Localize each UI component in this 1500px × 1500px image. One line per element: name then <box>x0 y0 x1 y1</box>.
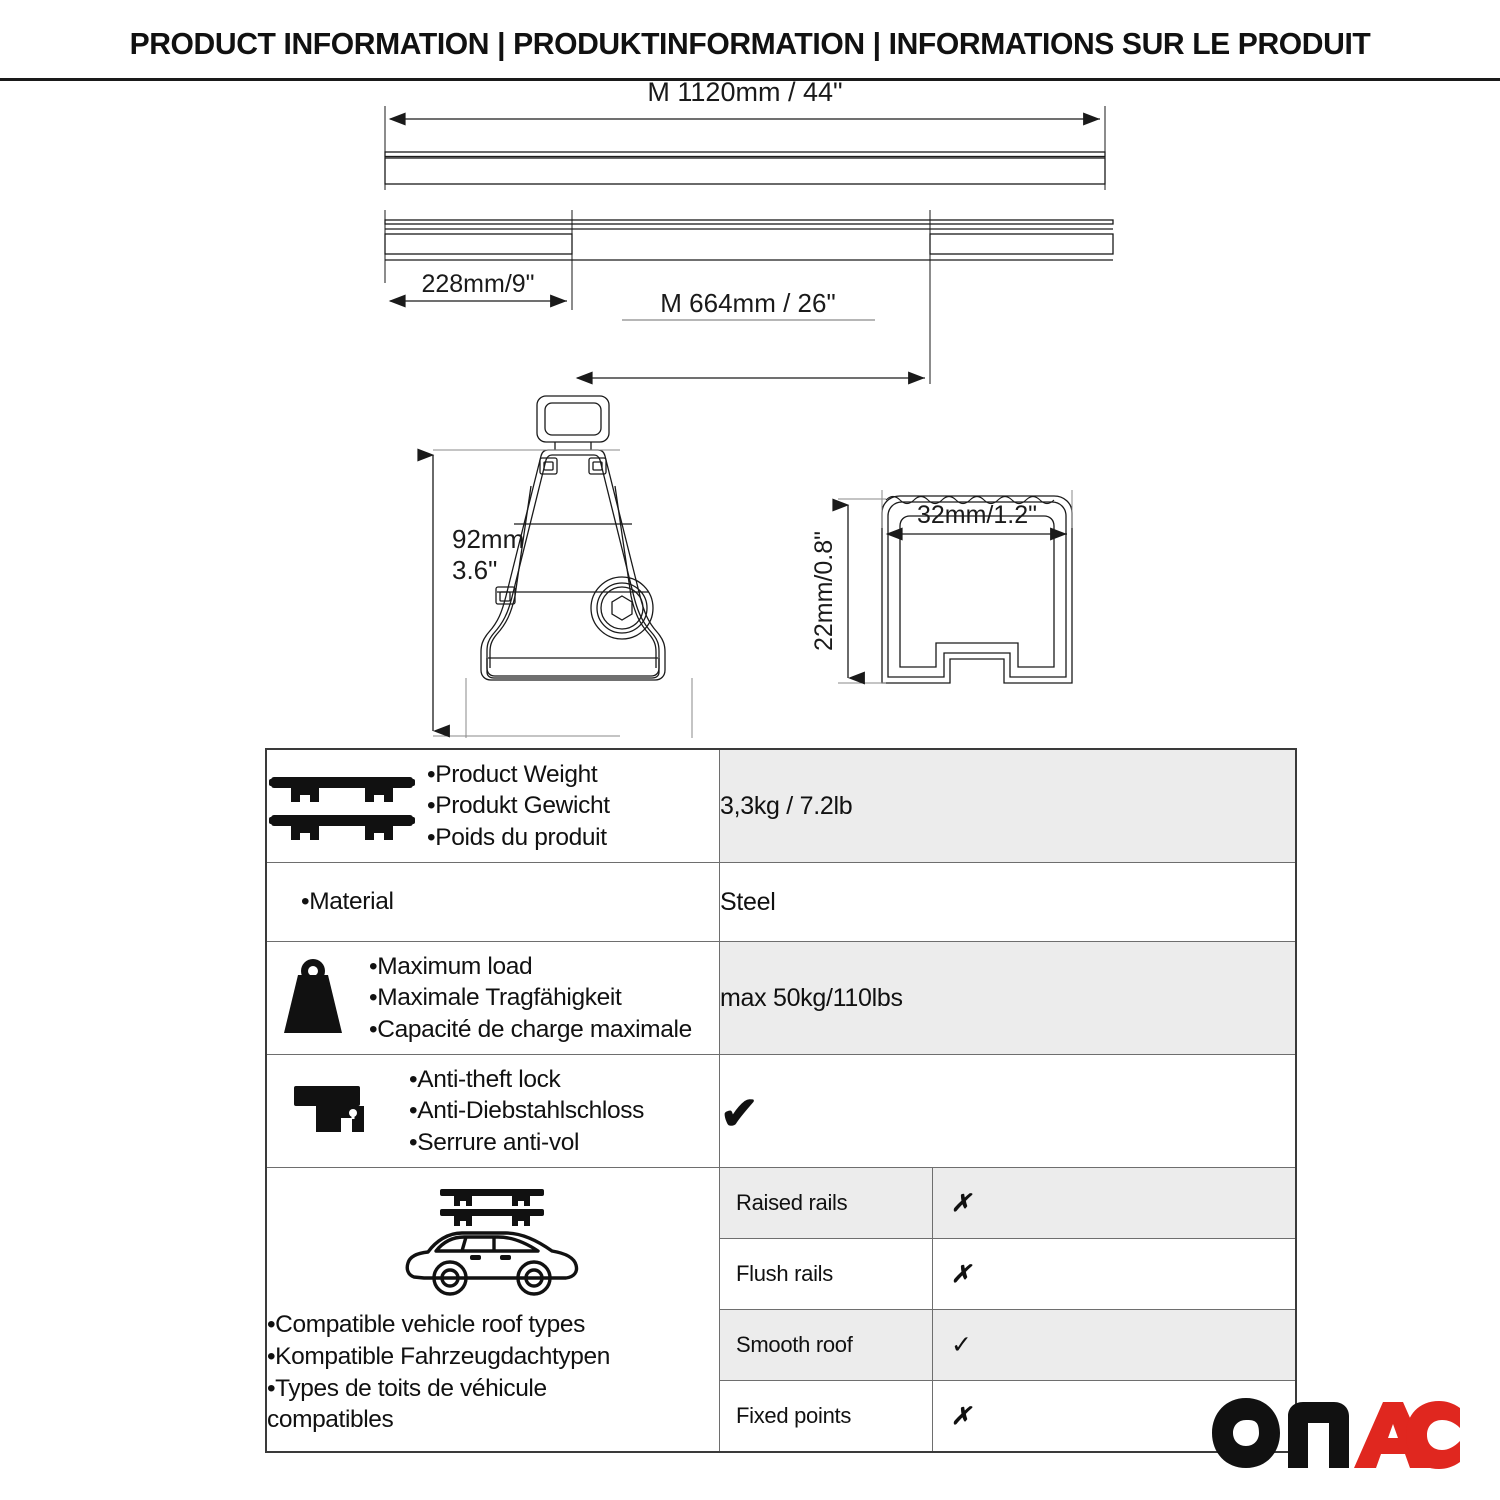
bullet-line: •Anti-Diebstahlschloss <box>409 1095 644 1126</box>
compatibility-label-cell: •Compatible vehicle roof types •Kompatib… <box>266 1168 720 1453</box>
table-row: •Compatible vehicle roof types •Kompatib… <box>266 1168 1296 1453</box>
spec-label-cell: •Material <box>266 863 720 942</box>
roof-type-mark: ✗ <box>933 1239 1296 1310</box>
spec-label-cell: •Maximum load •Maximale Tragfähigkeit •C… <box>266 942 720 1055</box>
svg-text:M 664mm / 26": M 664mm / 26" <box>660 288 835 318</box>
svg-text:104mm / 4": 104mm / 4" <box>513 737 645 738</box>
bullet-line: •Maximale Tragfähigkeit <box>369 982 692 1013</box>
roof-type-name: Fixed points <box>720 1381 933 1452</box>
roof-type-mark: ✗ <box>933 1168 1296 1239</box>
lock-icon <box>267 1082 399 1140</box>
svg-text:22mm/0.8": 22mm/0.8" <box>810 531 838 651</box>
bullet-line: •Anti-theft lock <box>409 1064 644 1095</box>
specification-table: •Product Weight •Produkt Gewicht •Poids … <box>265 748 1297 1453</box>
bullet-line: •Poids du produit <box>427 822 610 853</box>
svg-text:M 1120mm / 44": M 1120mm / 44" <box>647 78 842 107</box>
bullet-line: •Material <box>301 886 394 917</box>
bullet-line: compatibles <box>267 1404 719 1436</box>
roof-type-mark: ✓ <box>933 1310 1296 1381</box>
svg-text:92mm: 92mm <box>452 524 524 554</box>
bullet-line: •Produkt Gewicht <box>427 790 610 821</box>
bullet-line: •Compatible vehicle roof types <box>267 1309 719 1341</box>
page-title: PRODUCT INFORMATION | PRODUKTINFORMATION… <box>23 26 1478 62</box>
cross-icon: ✗ <box>951 1190 971 1217</box>
spec-bullets: •Material <box>267 886 394 917</box>
roof-type-row: Flush rails ✗ <box>720 1239 1295 1310</box>
spec-bullets: •Maximum load •Maximale Tragfähigkeit •C… <box>369 951 692 1045</box>
crossbars-icon <box>267 767 417 845</box>
bullet-line: •Kompatible Fahrzeugdachtypen <box>267 1341 719 1373</box>
spec-bullets: •Product Weight •Produkt Gewicht •Poids … <box>427 759 610 853</box>
bullet-line: •Maximum load <box>369 951 692 982</box>
max-load-value: max 50kg/110lbs <box>720 942 1297 1055</box>
cross-icon: ✗ <box>951 1403 971 1430</box>
spec-label-cell: •Anti-theft lock •Anti-Diebstahlschloss … <box>266 1055 720 1168</box>
svg-text:32mm/1.2": 32mm/1.2" <box>917 501 1037 529</box>
roof-type-name: Smooth roof <box>720 1310 933 1381</box>
spec-bullets: •Anti-theft lock •Anti-Diebstahlschloss … <box>409 1064 644 1158</box>
bullet-line: •Product Weight <box>427 759 610 790</box>
product-information-page: PRODUCT INFORMATION | PRODUKTINFORMATION… <box>0 0 1500 1500</box>
technical-drawing: M 1120mm / 44" 228mm/9" M 664mm / 26" 92… <box>0 78 1500 738</box>
svg-text:228mm/9": 228mm/9" <box>421 270 534 298</box>
roof-type-row: Raised rails ✗ <box>720 1168 1295 1239</box>
table-row: •Material Steel <box>266 863 1296 942</box>
table-row: •Anti-theft lock •Anti-Diebstahlschloss … <box>266 1055 1296 1168</box>
roof-type-row: Fixed points ✗ <box>720 1381 1295 1452</box>
product-weight-value: 3,3kg / 7.2lb <box>720 749 1297 863</box>
anti-theft-value-cell: ✔ <box>720 1055 1297 1168</box>
roof-type-row: Smooth roof ✓ <box>720 1310 1295 1381</box>
omac-logo-mark <box>1210 1396 1462 1470</box>
bullet-line: •Capacité de charge maximale <box>369 1014 692 1045</box>
roof-type-name: Flush rails <box>720 1239 933 1310</box>
weight-icon <box>267 957 359 1039</box>
cross-icon: ✗ <box>951 1261 971 1288</box>
spec-label-cell: •Product Weight •Produkt Gewicht •Poids … <box>266 749 720 863</box>
table-row: •Product Weight •Produkt Gewicht •Poids … <box>266 749 1296 863</box>
compatibility-bullets: •Compatible vehicle roof types •Kompatib… <box>267 1309 719 1436</box>
table-row: •Maximum load •Maximale Tragfähigkeit •C… <box>266 942 1296 1055</box>
bullet-line: •Types de toits de véhicule <box>267 1373 719 1405</box>
checkmark-icon: ✔ <box>720 1090 758 1136</box>
omac-logo <box>1210 1396 1462 1470</box>
checkmark-icon: ✓ <box>951 1331 972 1359</box>
bullet-line: •Serrure anti-vol <box>409 1127 644 1158</box>
roof-type-name: Raised rails <box>720 1168 933 1239</box>
car-with-rack-icon <box>267 1183 719 1303</box>
svg-text:3.6": 3.6" <box>452 555 497 585</box>
material-value: Steel <box>720 863 1297 942</box>
roof-types-table: Raised rails ✗ Flush rails ✗ <box>720 1168 1295 1451</box>
